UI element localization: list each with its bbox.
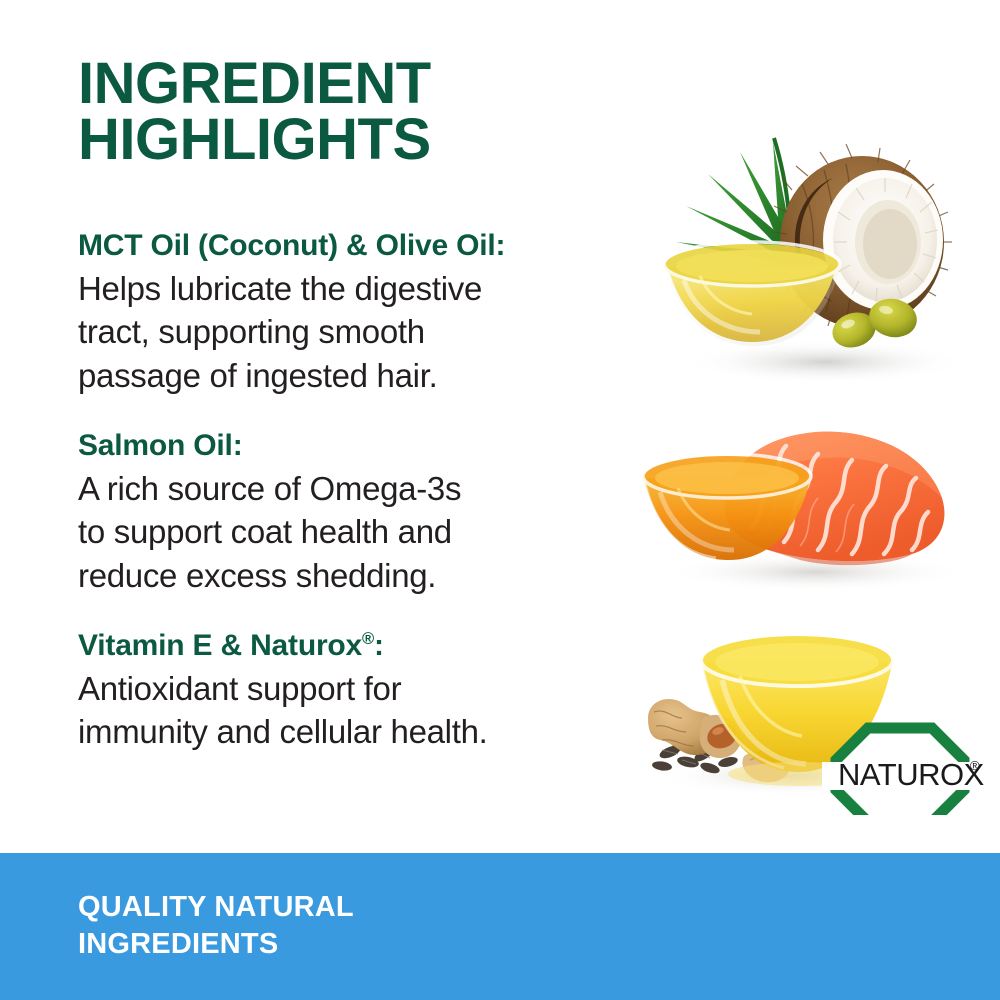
quality-banner-line-2: INGREDIENTS xyxy=(78,926,354,963)
text-column: INGREDIENT HIGHLIGHTS MCT Oil (Coconut) … xyxy=(0,0,640,853)
body-line: immunity and cellular health. xyxy=(78,710,638,754)
page-title-line-1: INGREDIENT xyxy=(78,56,598,112)
body-line: reduce excess shedding. xyxy=(78,554,638,598)
body-line: Helps lubricate the digestive xyxy=(78,267,638,311)
heading-text: Vitamin E & Naturox xyxy=(78,629,362,662)
shadow xyxy=(685,340,965,384)
registered-mark-icon: ® xyxy=(970,758,980,773)
naturox-wordmark: NATUROX xyxy=(838,757,985,792)
ingredient-block-salmon: Salmon Oil: A rich source of Omega-3s to… xyxy=(78,428,638,598)
quality-banner: QUALITY NATURAL INGREDIENTS xyxy=(0,853,1000,1000)
ingredient-body-vitamin-e: Antioxidant support for immunity and cel… xyxy=(78,667,638,755)
coconut-olive-oil-photo xyxy=(640,130,985,395)
page-title: INGREDIENT HIGHLIGHTS xyxy=(78,56,598,169)
ingredient-heading-vitamin-e: Vitamin E & Naturox®: xyxy=(78,628,638,665)
quality-banner-text: QUALITY NATURAL INGREDIENTS xyxy=(78,889,354,963)
ingredient-block-vitamin-e: Vitamin E & Naturox®: Antioxidant suppor… xyxy=(78,628,638,754)
ingredient-heading-salmon: Salmon Oil: xyxy=(78,428,638,465)
ingredient-highlights-panel: INGREDIENT HIGHLIGHTS MCT Oil (Coconut) … xyxy=(0,0,1000,1000)
vitamin-e-naturox-photo: NATUROX ® xyxy=(640,600,985,815)
body-line: tract, supporting smooth xyxy=(78,310,638,354)
ingredient-body-salmon: A rich source of Omega-3s to support coa… xyxy=(78,467,638,599)
ingredient-body-mct-olive: Helps lubricate the digestive tract, sup… xyxy=(78,267,638,399)
heading-colon: : xyxy=(374,629,384,662)
ingredient-block-mct-olive: MCT Oil (Coconut) & Olive Oil: Helps lub… xyxy=(78,228,638,398)
body-line: to support coat health and xyxy=(78,510,638,554)
image-column: NATUROX ® xyxy=(620,0,1000,853)
body-line: Antioxidant support for xyxy=(78,667,638,711)
registered-mark-icon: ® xyxy=(362,630,374,648)
ingredient-heading-mct-olive: MCT Oil (Coconut) & Olive Oil: xyxy=(78,228,638,265)
quality-banner-line-1: QUALITY NATURAL xyxy=(78,889,354,926)
oil-bowl-icon xyxy=(664,242,840,346)
body-line: A rich source of Omega-3s xyxy=(78,467,638,511)
salmon-oil-photo xyxy=(630,400,975,600)
body-line: passage of ingested hair. xyxy=(78,354,638,398)
page-title-line-2: HIGHLIGHTS xyxy=(78,112,598,168)
